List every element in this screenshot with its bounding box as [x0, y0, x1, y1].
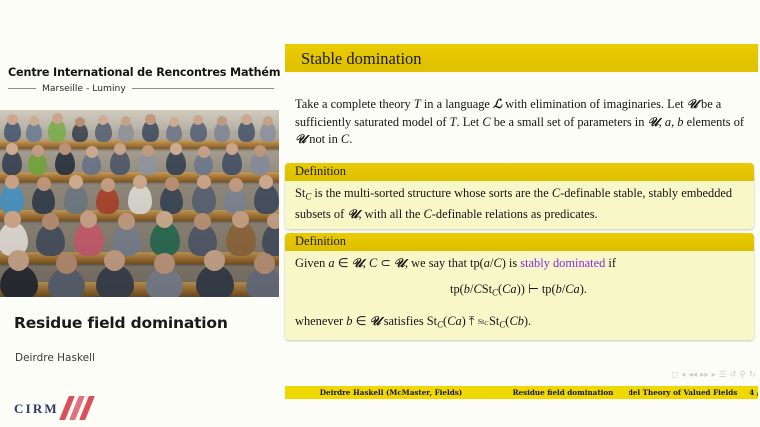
slide-title: Stable domination — [301, 49, 422, 69]
divider-left — [8, 88, 36, 89]
presentation-slide: Stable domination Take a complete theory… — [280, 0, 760, 427]
nav-back-arrow-icon[interactable]: ↺ — [730, 370, 737, 380]
definition-2-line-2: whenever b ∈ 𝒰 satisfies StC(Ca) ⤒StC St… — [295, 313, 742, 334]
intro-paragraph: Take a complete theory T in a language ℒ… — [295, 96, 747, 149]
nav-forward-icon[interactable]: ▸▸ — [700, 370, 709, 380]
nav-slide-icon[interactable]: ◻ — [671, 370, 678, 380]
footer-event: Model Theory of Valued Fields — [629, 388, 737, 397]
footer-right: Model Theory of Valued Fields 4 / 19 — [629, 388, 758, 397]
institution-header: Centre International de Rencontres Mathé… — [8, 66, 274, 94]
nav-doc-icon[interactable]: ☰ — [719, 370, 727, 380]
institution-subtitle-row: Marseille - Luminy — [8, 83, 274, 94]
footer-short-title: Residue field domination — [497, 388, 629, 397]
talk-speaker: Deirdre Haskell — [15, 352, 95, 364]
nav-next-frame-icon[interactable]: ▸ — [712, 370, 716, 380]
cirm-logo-text: CIRM — [14, 401, 59, 417]
slide-footer: Deirdre Haskell (McMaster, Fields) Resid… — [285, 386, 758, 399]
institution-subtitle: Marseille - Luminy — [42, 83, 126, 94]
nav-back-icon[interactable]: ◂◂ — [689, 370, 698, 380]
definition-block-1-header: Definition — [285, 163, 754, 181]
nav-search-icon[interactable]: ⚲ — [740, 370, 746, 380]
beamer-navigation-symbols[interactable]: ◻ ◂ ◂◂ ▸▸ ▸ ☰ ↺ ⚲ ↻ — [596, 369, 756, 381]
nav-prev-frame-icon[interactable]: ◂ — [681, 370, 685, 380]
talk-title: Residue field domination — [14, 314, 228, 332]
divider-right — [132, 88, 274, 89]
footer-author: Deirdre Haskell (McMaster, Fields) — [285, 388, 497, 397]
definition-block-2-body: Given a ∈ 𝒰, C ⊂ 𝒰, we say that tp(a/C) … — [285, 251, 754, 340]
highlight-stably-dominated: stably dominated — [520, 256, 605, 270]
audience-photo — [0, 110, 279, 297]
left-info-panel: Centre International de Rencontres Mathé… — [0, 0, 280, 427]
footer-page-number: 4 / 19 — [749, 388, 758, 397]
slide-title-bar: Stable domination — [285, 44, 758, 72]
definition-block-2-header: Definition — [285, 233, 754, 251]
definition-block-2: Definition Given a ∈ 𝒰, C ⊂ 𝒰, we say th… — [285, 233, 754, 340]
definition-2-equation: tp(b/CStC(Ca)) ⊢ tp(b/Ca). — [295, 281, 742, 302]
institution-title: Centre International de Rencontres Mathé… — [8, 66, 274, 79]
definition-block-1: Definition StC is the multi-sorted struc… — [285, 163, 754, 229]
definition-2-line-1: Given a ∈ 𝒰, C ⊂ 𝒰, we say that tp(a/C) … — [295, 255, 742, 272]
nav-forward-arrow-icon[interactable]: ↻ — [749, 370, 756, 380]
definition-block-1-body: StC is the multi-sorted structure whose … — [285, 181, 754, 229]
cirm-logo: CIRM — [14, 396, 134, 422]
